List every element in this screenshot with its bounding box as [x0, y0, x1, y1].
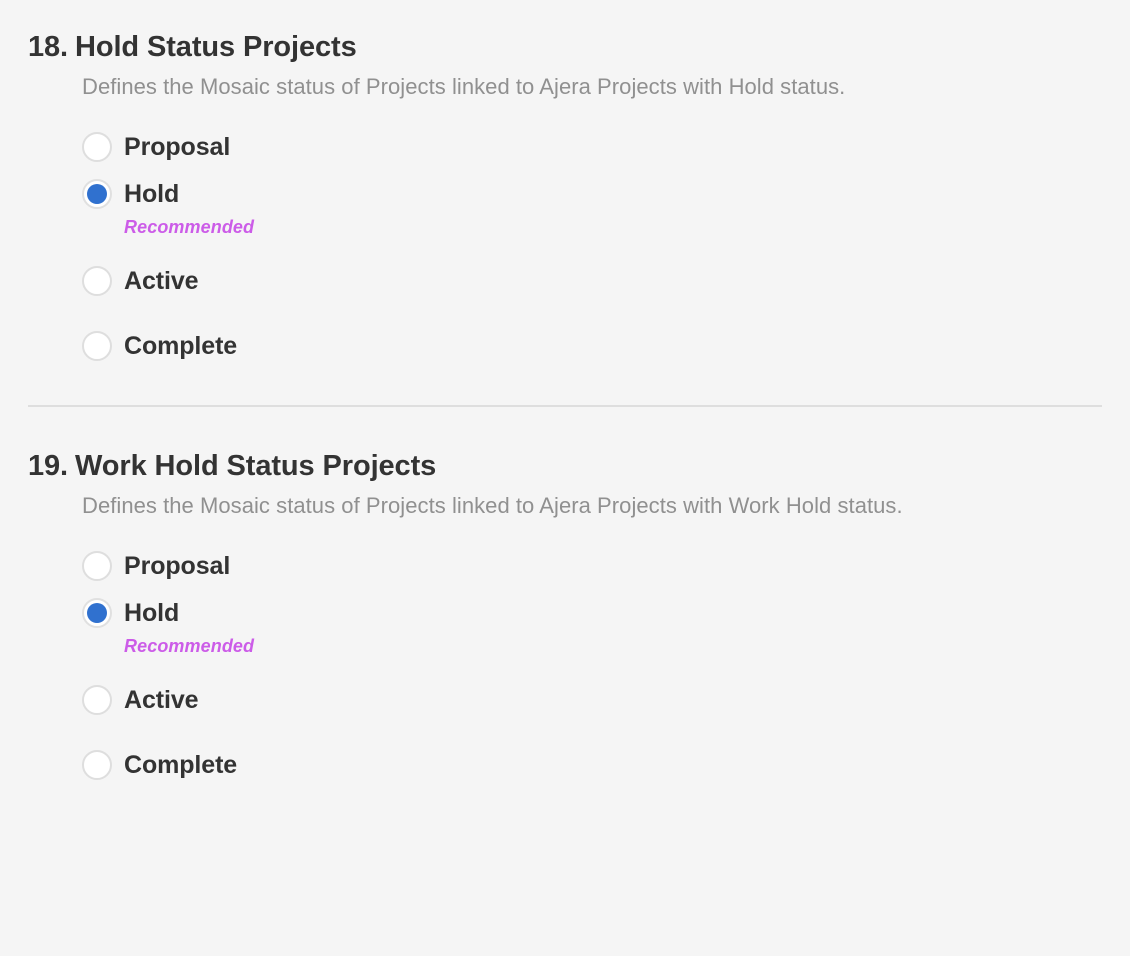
radio-circle-icon[interactable]	[82, 685, 112, 715]
radio-option-active-target[interactable]: Active	[82, 676, 198, 723]
question-number: 19.	[28, 447, 68, 485]
question-description: Defines the Mosaic status of Projects li…	[82, 489, 1082, 523]
radio-circle-icon[interactable]	[82, 132, 112, 162]
spacer	[0, 369, 1130, 405]
radio-option-label: Hold	[124, 598, 179, 628]
radio-circle-selected-icon[interactable]	[82, 179, 112, 209]
radio-option-active-target[interactable]: Active	[82, 257, 198, 304]
radio-option-label: Active	[124, 266, 198, 296]
recommended-badge: Recommended	[124, 634, 254, 658]
question-title: Work Hold Status Projects	[75, 447, 436, 485]
radio-option-label: Complete	[124, 331, 237, 361]
radio-group-hold-status-projects: Proposal Hold Recommended Acti	[82, 123, 1102, 369]
radio-option-label: Complete	[124, 750, 237, 780]
radio-option-complete-target[interactable]: Complete	[82, 741, 237, 788]
spacer	[0, 407, 1130, 447]
radio-option-proposal[interactable]: Proposal	[82, 542, 1102, 589]
radio-option-proposal-target[interactable]: Proposal	[82, 542, 230, 589]
radio-circle-selected-icon[interactable]	[82, 598, 112, 628]
radio-option-complete-target[interactable]: Complete	[82, 322, 237, 369]
question-block-19: 19. Work Hold Status Projects Defines th…	[0, 447, 1130, 788]
radio-option-active[interactable]: Active	[82, 257, 1102, 304]
question-description: Defines the Mosaic status of Projects li…	[82, 70, 1102, 104]
question-number: 18.	[28, 28, 68, 66]
radio-group-work-hold-status-projects: Proposal Hold Recommended Acti	[82, 542, 1102, 788]
radio-option-hold[interactable]: Hold Recommended	[82, 589, 1102, 658]
radio-circle-icon[interactable]	[82, 266, 112, 296]
question-title: Hold Status Projects	[75, 28, 357, 66]
radio-option-label: Proposal	[124, 132, 230, 162]
radio-option-hold-target[interactable]: Hold	[82, 170, 254, 217]
radio-circle-icon[interactable]	[82, 331, 112, 361]
radio-option-label: Active	[124, 685, 198, 715]
radio-circle-icon[interactable]	[82, 750, 112, 780]
radio-option-active[interactable]: Active	[82, 676, 1102, 723]
radio-option-proposal[interactable]: Proposal	[82, 123, 1102, 170]
radio-option-label: Proposal	[124, 551, 230, 581]
recommended-badge: Recommended	[124, 215, 254, 239]
radio-option-hold[interactable]: Hold Recommended	[82, 170, 1102, 239]
radio-option-label: Hold	[124, 179, 179, 209]
question-heading: 19. Work Hold Status Projects	[28, 447, 1102, 485]
settings-questions-page: 18. Hold Status Projects Defines the Mos…	[0, 0, 1130, 956]
radio-option-proposal-target[interactable]: Proposal	[82, 123, 230, 170]
radio-option-complete[interactable]: Complete	[82, 322, 1102, 369]
radio-circle-icon[interactable]	[82, 551, 112, 581]
question-heading: 18. Hold Status Projects	[28, 28, 1102, 66]
radio-option-hold-target[interactable]: Hold	[82, 589, 254, 636]
radio-option-complete[interactable]: Complete	[82, 741, 1102, 788]
question-block-18: 18. Hold Status Projects Defines the Mos…	[0, 0, 1130, 369]
